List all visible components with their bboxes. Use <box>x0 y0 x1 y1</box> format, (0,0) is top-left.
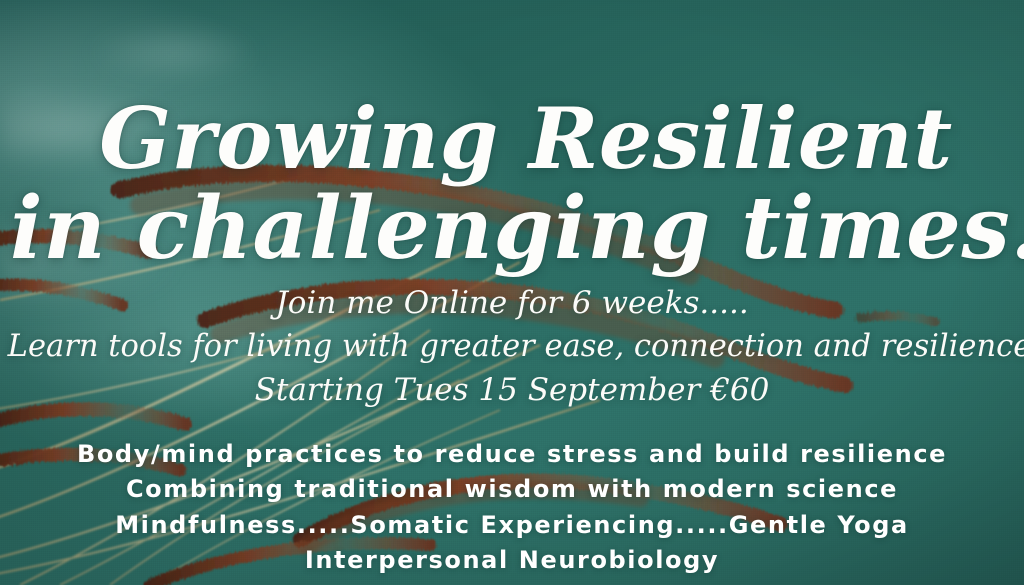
subtitle-line-1: Join me Online for 6 weeks..... <box>0 282 1024 325</box>
poster-subtitle: Join me Online for 6 weeks..... Learn to… <box>0 282 1024 412</box>
details-line-2: Combining traditional wisdom with modern… <box>0 472 1024 507</box>
subtitle-line-2: Learn tools for living with greater ease… <box>8 325 1017 368</box>
title-line-1: Growing Resilient <box>0 94 1024 183</box>
details-line-3: Mindfulness.....Somatic Experiencing....… <box>0 508 1024 543</box>
poster-title: Growing Resilient in challenging times..… <box>0 94 1024 274</box>
poster-canvas: Growing Resilient in challenging times..… <box>0 0 1024 585</box>
poster-text: Growing Resilient in challenging times..… <box>0 0 1024 585</box>
details-line-1: Body/mind practices to reduce stress and… <box>0 437 1024 472</box>
details-line-4: Interpersonal Neurobiology <box>0 543 1024 578</box>
poster-details: Body/mind practices to reduce stress and… <box>0 437 1024 578</box>
subtitle-line-3: Starting Tues 15 September €60 <box>0 369 1024 412</box>
title-line-2: in challenging times.... <box>0 183 1024 274</box>
